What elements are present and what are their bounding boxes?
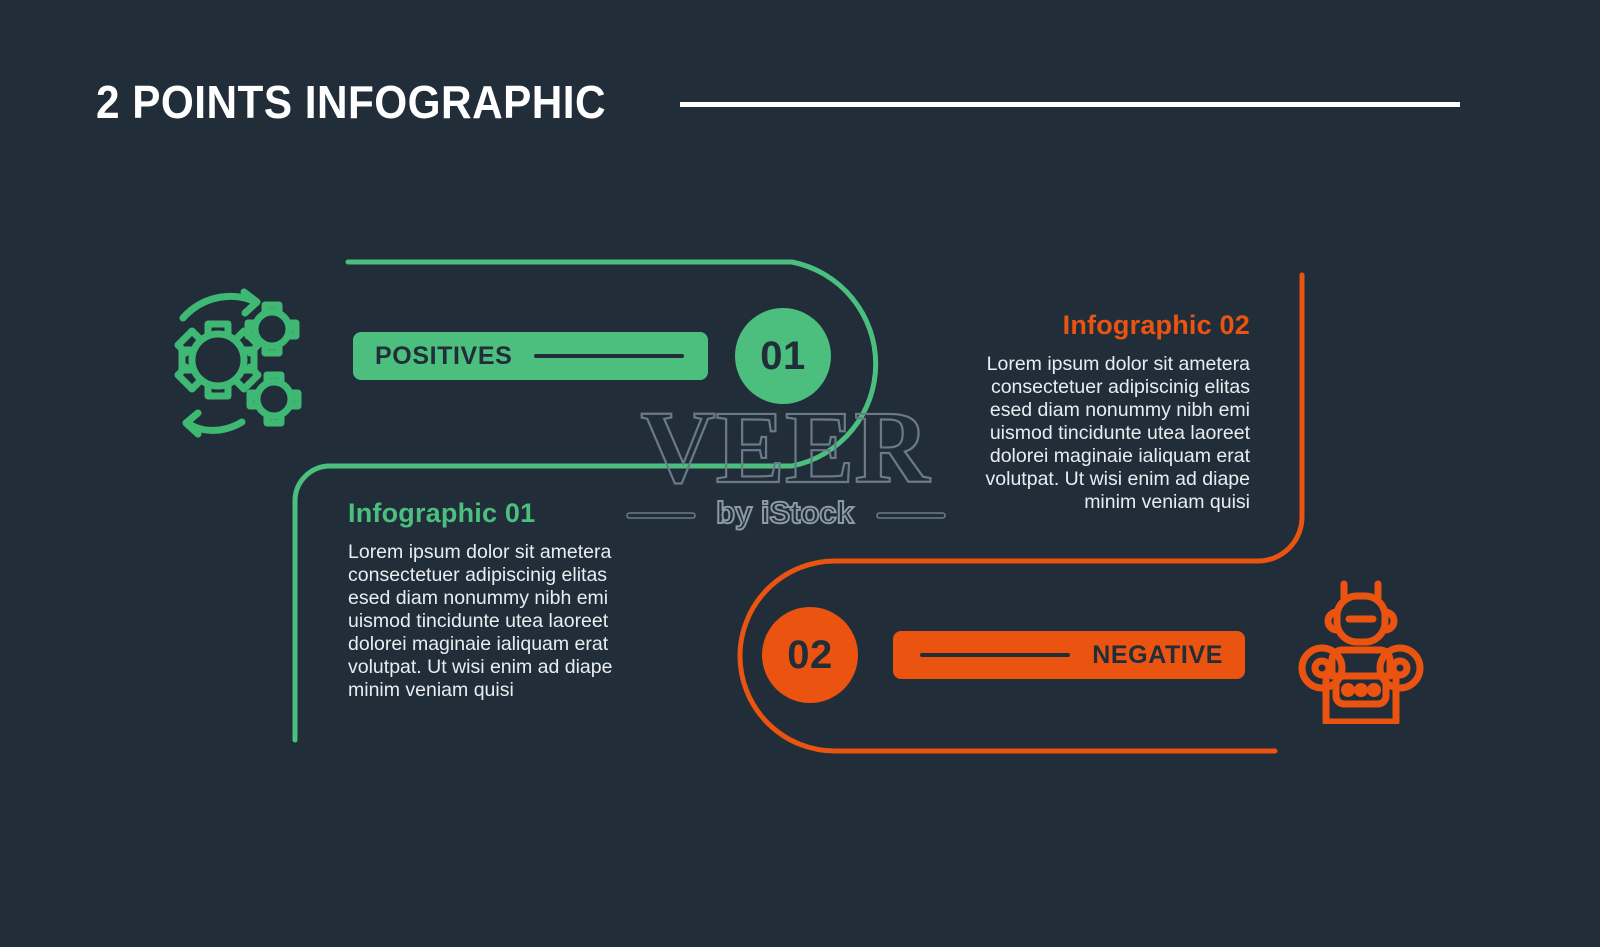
- connector-paths: [0, 0, 1600, 947]
- positives-label-text: POSITIVES: [375, 342, 512, 371]
- step-heading-01: Infographic 01: [348, 498, 648, 529]
- step-body-01: Lorem ipsum dolor sit ametera consectetu…: [348, 541, 648, 702]
- negative-label-pill[interactable]: NEGATIVE: [893, 631, 1245, 679]
- step-text-block-01: Infographic 01 Lorem ipsum dolor sit ame…: [348, 498, 648, 702]
- step-number-badge-02[interactable]: 02: [762, 607, 858, 703]
- infographic-canvas: 2 POINTS INFOGRAPHIC VEER by iStock 01 P…: [0, 0, 1600, 947]
- positives-label-pill[interactable]: POSITIVES: [353, 332, 708, 380]
- step-body-02: Lorem ipsum dolor sit ametera consectetu…: [950, 353, 1250, 514]
- pill-dash-icon: [920, 653, 1070, 657]
- gears-icon: [152, 282, 308, 438]
- pill-dash-icon: [534, 354, 684, 358]
- robot-icon: [1296, 572, 1426, 724]
- step-number-badge-01[interactable]: 01: [735, 308, 831, 404]
- negative-label-text: NEGATIVE: [1092, 641, 1223, 670]
- step-text-block-02: Infographic 02 Lorem ipsum dolor sit ame…: [950, 310, 1250, 514]
- step-heading-02: Infographic 02: [950, 310, 1250, 341]
